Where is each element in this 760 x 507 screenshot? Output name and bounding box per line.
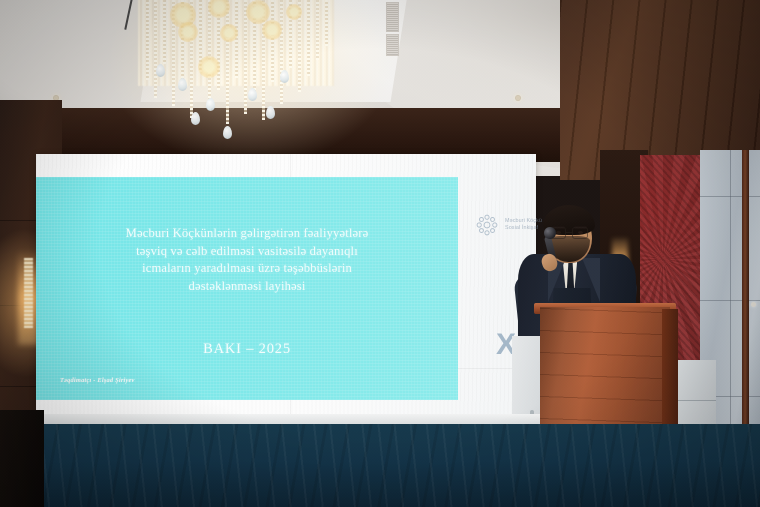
slide-title-line-1: Məcburi Köçkünlərin gəlirgətirən fəaliyy… xyxy=(54,225,440,243)
slide-title-line-4: dəstəklənməsi layihəsi xyxy=(54,278,440,296)
slide-presenter-credit: Təqdimatçı - Elşad Şiriyev xyxy=(60,377,135,384)
speaker-eye-right xyxy=(578,231,583,234)
chandelier-crystal-drop xyxy=(206,98,215,111)
ceiling-downlight-icon xyxy=(515,95,521,101)
slide-title-line-2: təşviq və cəlb edilməsi vasitəsilə dayan… xyxy=(54,243,440,261)
conference-photo-scene: Məcburi Köçkü Sosial İnkişaf XO Məcburi … xyxy=(0,0,760,507)
chandelier-bulb-icon xyxy=(198,56,220,78)
wall-sconce-crystals xyxy=(24,258,33,328)
chandelier-rod xyxy=(124,0,133,30)
slide-title: Məcburi Köçkünlərin gəlirgətirən fəaliyy… xyxy=(54,225,440,295)
chandelier-crystal-drop xyxy=(248,88,257,101)
chandelier-crystal-drop xyxy=(223,126,232,139)
speaker-eye-left xyxy=(556,231,561,234)
slide-title-line-3: icmaların yaradılması üzrə təşəbbüslərin xyxy=(54,260,440,278)
slide-place-year: BAKI – 2025 xyxy=(54,341,440,358)
chandelier-bulb-icon xyxy=(286,4,302,20)
chandelier xyxy=(120,0,350,144)
floor-dark-corner-left xyxy=(0,410,44,507)
presentation-slide: Məcburi Köçkünlərin gəlirgətirən fəaliyy… xyxy=(36,177,458,400)
chandelier-crystal-drop xyxy=(266,106,275,119)
chandelier-bulb-icon xyxy=(262,20,282,40)
chandelier-crystal-drop xyxy=(191,112,200,125)
speaker-glasses-bridge xyxy=(566,232,572,233)
eight-point-star-logo-icon xyxy=(474,212,500,238)
carpet-pattern xyxy=(0,424,760,507)
chandelier-crystal-drop xyxy=(280,70,289,83)
door-knob-icon xyxy=(751,302,756,307)
chandelier-crystal-drop xyxy=(156,64,165,77)
chandelier-bulb-icon xyxy=(220,24,238,42)
chandelier-bulb-icon xyxy=(178,22,198,42)
ceiling-vent-grille-icon xyxy=(386,2,399,32)
ceiling-vent-grille-lower-icon xyxy=(386,34,399,56)
chandelier-crystal-drop xyxy=(178,78,187,91)
